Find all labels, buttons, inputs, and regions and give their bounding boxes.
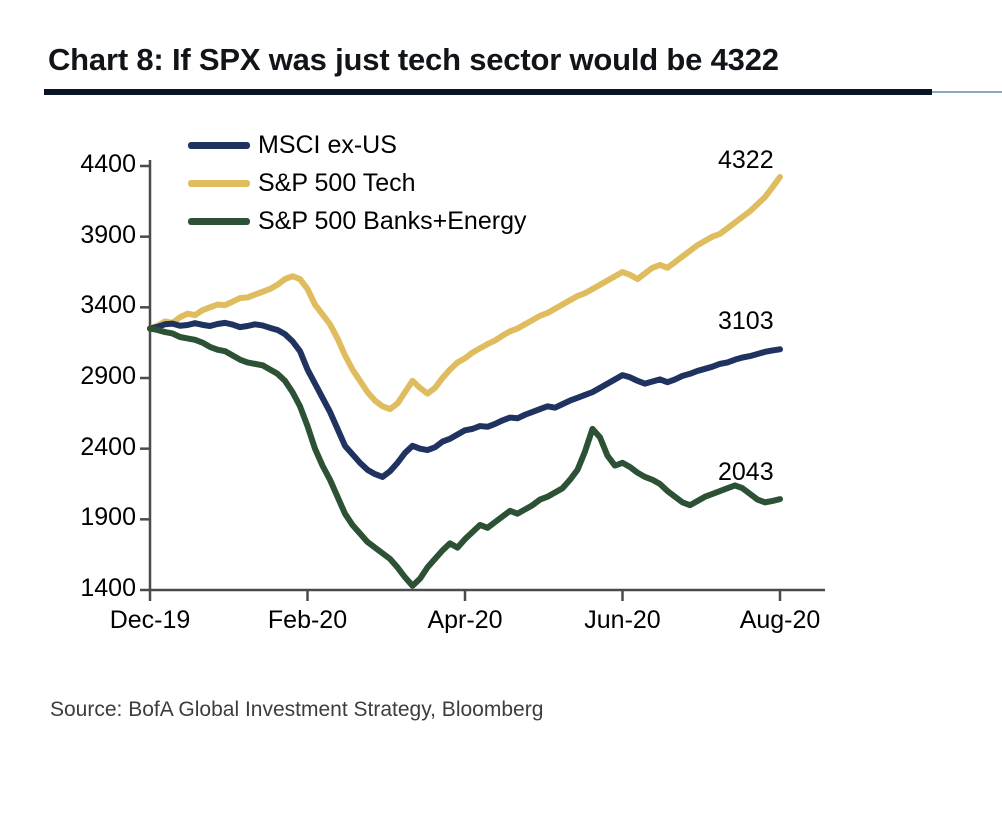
y-axis-tick-label: 1900 [52,503,136,532]
legend-swatch-sp500-tech [188,180,250,187]
y-axis-tick-label: 4400 [52,150,136,179]
legend-swatch-sp500-banks-energy [188,218,250,225]
x-axis-tick-label: Dec-19 [80,606,220,635]
legend-swatch-msci-ex-us [188,142,250,149]
end-label-sp500-tech: 4322 [718,146,774,175]
y-axis-tick-label: 2900 [52,362,136,391]
y-axis-tick-label: 2400 [52,433,136,462]
y-axis-tick-label: 3400 [52,291,136,320]
legend-label-sp500-banks-energy: S&P 500 Banks+Energy [258,207,526,236]
legend-item-msci-ex-us[interactable]: MSCI ex-US [188,126,526,164]
chart-page: Chart 8: If SPX was just tech sector wou… [0,0,1002,834]
source-note: Source: BofA Global Investment Strategy,… [50,698,543,722]
chart-legend: MSCI ex-US S&P 500 Tech S&P 500 Banks+En… [188,126,526,240]
series-line-s-p-500-banks-energy [150,329,780,586]
x-axis-tick-label: Jun-20 [553,606,693,635]
series-line-msci-ex-us [150,323,780,477]
end-label-msci-ex-us: 3103 [718,307,774,336]
legend-label-sp500-tech: S&P 500 Tech [258,169,416,198]
legend-label-msci-ex-us: MSCI ex-US [258,131,397,160]
legend-item-sp500-tech[interactable]: S&P 500 Tech [188,164,526,202]
x-axis-tick-label: Apr-20 [395,606,535,635]
x-axis-tick-label: Feb-20 [238,606,378,635]
legend-item-sp500-banks-energy[interactable]: S&P 500 Banks+Energy [188,202,526,240]
x-axis-tick-label: Aug-20 [710,606,850,635]
y-axis-tick-label: 3900 [52,221,136,250]
y-axis-tick-label: 1400 [52,574,136,603]
end-label-sp500-banks-energy: 2043 [718,458,774,487]
